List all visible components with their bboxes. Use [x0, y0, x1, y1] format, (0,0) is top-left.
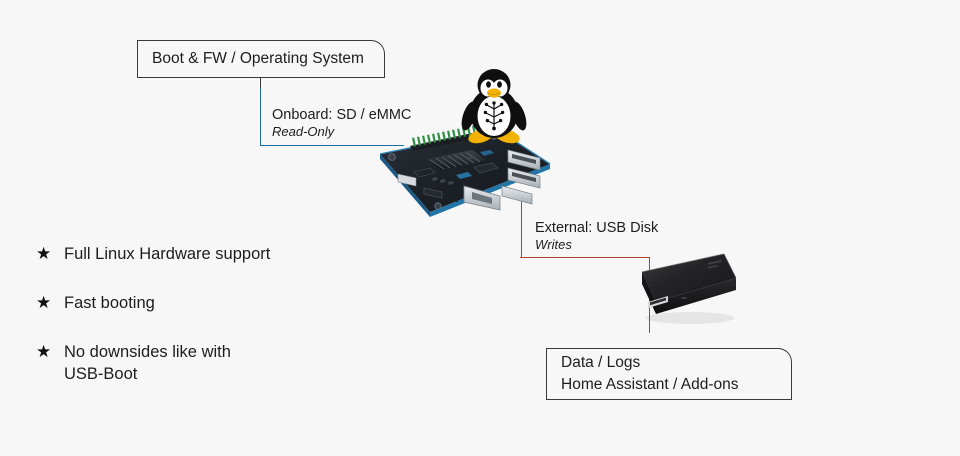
box-data-line-1: Data / Logs — [561, 352, 777, 374]
star-icon: ★ — [36, 341, 64, 364]
star-icon: ★ — [36, 292, 64, 315]
label-external-storage: External: USB Disk Writes — [535, 219, 658, 254]
box-boot-operating-system[interactable]: Boot & FW / Operating System — [137, 40, 385, 78]
box-os-line-1: Boot & FW / Operating System — [152, 48, 370, 70]
star-icon: ★ — [36, 243, 64, 266]
list-item: ★ No downsides like with USB-Boot — [36, 341, 316, 386]
label-onboard-subtitle: Read-Only — [272, 124, 411, 141]
label-onboard-title: Onboard: SD / eMMC — [272, 106, 411, 124]
list-item: ★ Fast booting — [36, 292, 316, 315]
slide-canvas: Boot & FW / Operating System Data / Logs… — [0, 0, 960, 456]
label-onboard-storage: Onboard: SD / eMMC Read-Only — [272, 106, 411, 141]
box-data-line-2: Home Assistant / Add-ons — [561, 374, 777, 396]
list-item-label: Full Linux Hardware support — [64, 243, 270, 265]
benefits-list: ★ Full Linux Hardware support ★ Fast boo… — [36, 243, 316, 411]
label-external-title: External: USB Disk — [535, 219, 658, 237]
list-item: ★ Full Linux Hardware support — [36, 243, 316, 266]
list-item-label: Fast booting — [64, 292, 155, 314]
list-item-label: No downsides like with USB-Boot — [64, 341, 274, 386]
label-external-subtitle: Writes — [535, 237, 658, 254]
external-usb-disk-image — [612, 246, 740, 344]
box-data-logs[interactable]: Data / Logs Home Assistant / Add-ons — [546, 348, 792, 400]
connector-onboard-vertical — [260, 88, 261, 146]
linux-tux-penguin-icon — [459, 66, 529, 148]
